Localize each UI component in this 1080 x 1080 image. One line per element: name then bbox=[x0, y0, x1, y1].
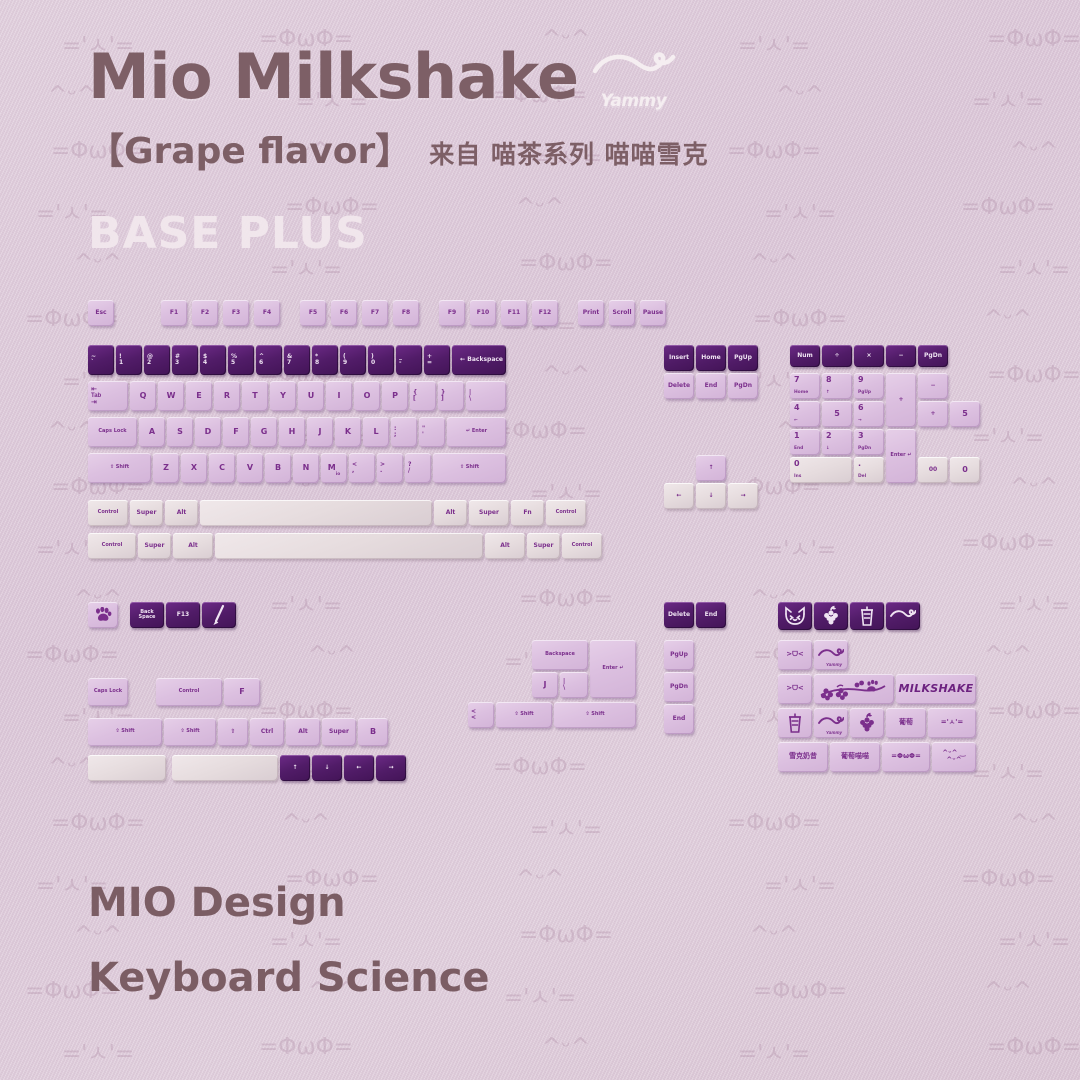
keycap-arrow-down[interactable]: ↓ bbox=[696, 483, 726, 509]
keycap-super-x[interactable]: Super bbox=[322, 718, 356, 746]
keycap-legend: L bbox=[373, 428, 378, 436]
keycap-legend: 3 bbox=[858, 432, 864, 440]
keycap-end-m[interactable]: End bbox=[696, 602, 726, 628]
keycap-legend: S bbox=[177, 428, 183, 436]
keycap-nov-grape2[interactable] bbox=[850, 708, 884, 738]
keycap-n00[interactable]: 00 bbox=[918, 457, 948, 483]
keycap-lctrl[interactable]: Control bbox=[88, 500, 128, 526]
keycap-legend: − bbox=[930, 383, 935, 389]
keycap-legend-bottom: . bbox=[380, 468, 382, 474]
keycap-mult[interactable]: × bbox=[854, 345, 884, 367]
keycap-legend: F4 bbox=[263, 310, 271, 316]
keycap-legend: Alt bbox=[500, 543, 510, 549]
keycap-end[interactable]: End bbox=[696, 373, 726, 399]
keycap-f11[interactable]: F11 bbox=[501, 300, 527, 326]
keycap-legend: F bbox=[239, 688, 244, 696]
keycap-legend: U bbox=[308, 392, 315, 400]
keycap-backspace[interactable]: ← Backspace bbox=[452, 345, 506, 375]
keycap-legend: ↵ Enter bbox=[466, 429, 487, 434]
keycap-slash[interactable]: ?/ bbox=[405, 453, 431, 483]
keycap-nov-kao2[interactable]: >ᗜ< bbox=[778, 674, 812, 704]
keycap-space[interactable] bbox=[200, 500, 432, 526]
keycap-legend: X bbox=[191, 464, 197, 472]
kit-name-label: BASE PLUS bbox=[88, 208, 368, 259]
keycap-nov-yammy-dark[interactable] bbox=[886, 602, 920, 630]
keycap-n7[interactable]: 7Home bbox=[790, 373, 820, 399]
keycap-n4[interactable]: 4← bbox=[790, 401, 820, 427]
keycap-legend: PgUp bbox=[670, 652, 688, 658]
keycap-pipe-m[interactable]: |\ bbox=[560, 672, 588, 698]
keycap-legend: Backspace bbox=[545, 652, 575, 657]
keycap-lshift[interactable]: ⇧ Shift bbox=[88, 453, 151, 483]
keycap-j[interactable]: J bbox=[307, 417, 333, 447]
keycap-legend: F3 bbox=[232, 310, 240, 316]
keycap-tab[interactable]: ⇤Tab⇥ bbox=[88, 381, 128, 411]
keycap-nplus-big[interactable]: + bbox=[886, 373, 916, 427]
footer-tagline: Keyboard Science bbox=[88, 955, 490, 1001]
product-title-text: Mio Milkshake bbox=[88, 40, 579, 113]
keycap-legend: B bbox=[370, 728, 376, 736]
keycap-nov-kao1[interactable]: >ᗜ< bbox=[778, 640, 812, 670]
keycap-nov-kao3[interactable]: ='ㅅ'= bbox=[928, 708, 976, 738]
keycap-legend: F13 bbox=[177, 612, 189, 618]
keycap-d8[interactable]: *8 bbox=[312, 345, 338, 375]
keycap-legend: 5 bbox=[834, 410, 840, 418]
keycap-legend: Control bbox=[556, 510, 577, 515]
keycap-f10[interactable]: F10 bbox=[470, 300, 496, 326]
keycap-delete-m[interactable]: Delete bbox=[664, 602, 694, 628]
keycap-n0[interactable]: 0Ins bbox=[790, 457, 852, 483]
keycap-legend: PgDn bbox=[734, 383, 752, 389]
keycap-minus[interactable]: _- bbox=[396, 345, 422, 375]
keycap-legend-bottom: < bbox=[471, 715, 476, 721]
keycap-d2[interactable]: @2 bbox=[144, 345, 170, 375]
keycap-kaomoji: ='ㅅ'= bbox=[941, 719, 963, 726]
keycap-legend: ↓ bbox=[324, 765, 329, 771]
flavor-label-cn: 来自 喵茶系列 喵喵雪克 bbox=[429, 135, 708, 171]
keycap-shift-m1[interactable]: ⇧ Shift bbox=[496, 702, 552, 728]
keycap-d6[interactable]: ^6 bbox=[256, 345, 282, 375]
keycap-space-x1[interactable] bbox=[88, 755, 166, 781]
keycap-legend: Alt bbox=[177, 510, 187, 516]
keycap-arr-up-x[interactable]: ↑ bbox=[280, 755, 310, 781]
keycap-legend-bottom: 7 bbox=[287, 360, 291, 366]
keycap-legend: End bbox=[705, 612, 718, 618]
pen-icon bbox=[205, 604, 233, 626]
keycap-legend: D bbox=[205, 428, 212, 436]
keycap-period[interactable]: >. bbox=[377, 453, 403, 483]
keycap-legend: F9 bbox=[448, 310, 456, 316]
keycap-end-m2[interactable]: End bbox=[664, 704, 694, 734]
keycap-nov-milkshake[interactable]: MILKSHAKE bbox=[896, 674, 976, 704]
keycap-capslock[interactable]: Caps Lock bbox=[88, 417, 137, 447]
keycap-t[interactable]: T bbox=[242, 381, 268, 411]
keycap-shift-x1[interactable]: ⇧ Shift bbox=[88, 718, 162, 746]
keycap-kaomoji: >ᗜ< bbox=[786, 685, 804, 692]
keycap-n5-extra[interactable]: 5 bbox=[950, 401, 980, 427]
keycap-ralt2[interactable]: Alt bbox=[485, 533, 525, 559]
keycap-nplus-small[interactable]: + bbox=[918, 401, 948, 427]
keycap-nov-yammy1[interactable]: Yammy bbox=[814, 640, 848, 670]
keycap-enter[interactable]: ↵ Enter bbox=[447, 417, 506, 447]
keycap-h[interactable]: H bbox=[279, 417, 305, 447]
keycap-d9[interactable]: (9 bbox=[340, 345, 366, 375]
keycap-legend: A bbox=[149, 428, 155, 436]
keycap-k[interactable]: K bbox=[335, 417, 361, 447]
keycap-legend-bottom: 8 bbox=[315, 360, 319, 366]
keycap-div[interactable]: ÷ bbox=[822, 345, 852, 367]
keycap-kaomoji: =ΦωΦ= bbox=[891, 753, 921, 760]
keycap-arr-dn-x[interactable]: ↓ bbox=[312, 755, 342, 781]
yammy-logo: Yammy bbox=[593, 53, 685, 109]
keycap-legend: F2 bbox=[201, 310, 209, 316]
keycap-e[interactable]: E bbox=[186, 381, 212, 411]
keycap-semi[interactable]: :; bbox=[391, 417, 417, 447]
keycap-legend-bottom: 4 bbox=[203, 360, 207, 366]
keycap-legend: Ctrl bbox=[261, 729, 273, 735]
keycap-nov-cn1[interactable]: 雪克奶昔 bbox=[778, 742, 828, 772]
keycap-rshift[interactable]: ⇧ Shift bbox=[433, 453, 506, 483]
keycap-legend-bottom: \ bbox=[563, 685, 565, 691]
keycap-f[interactable]: F bbox=[223, 417, 249, 447]
keycap-quote[interactable]: "' bbox=[419, 417, 445, 447]
keycap-legend: Super bbox=[329, 729, 349, 735]
keycap-lbrace[interactable]: {[ bbox=[410, 381, 436, 411]
keycap-sublegend: End bbox=[794, 447, 803, 452]
keycap-legend-bottom: / bbox=[408, 468, 410, 474]
keycap-rbrace[interactable]: }] bbox=[438, 381, 464, 411]
keycap-f7[interactable]: F7 bbox=[362, 300, 388, 326]
keycap-comma[interactable]: <, bbox=[349, 453, 375, 483]
keycap-home[interactable]: Home bbox=[696, 345, 726, 371]
keycap-lalt2[interactable]: Alt bbox=[173, 533, 213, 559]
yammy-logo-text: Yammy bbox=[601, 91, 667, 111]
keycap-legend: Super bbox=[145, 543, 165, 549]
keycap-nov-cup[interactable] bbox=[850, 602, 884, 630]
keycap-legend: Enter ↵ bbox=[602, 666, 623, 671]
keycap-legend-bottom: ` bbox=[91, 360, 94, 366]
keycap-legend: ÷ bbox=[834, 353, 839, 359]
keycap-grave[interactable]: ~` bbox=[88, 345, 114, 375]
keycap-n0-extra[interactable]: 0 bbox=[950, 457, 980, 483]
keycap-legend: Control bbox=[179, 689, 200, 694]
keycap-d5[interactable]: %5 bbox=[228, 345, 254, 375]
keycap-fn[interactable]: Fn bbox=[511, 500, 544, 526]
keycap-sublegend: io bbox=[336, 473, 341, 478]
keycap-sublegend: ↓ bbox=[826, 447, 830, 452]
keycap-legend: F bbox=[233, 428, 238, 436]
keycap-legend: F7 bbox=[371, 310, 379, 316]
keycap-ndot[interactable]: .Del bbox=[854, 457, 884, 483]
grape-icon bbox=[817, 604, 845, 628]
keycap-shift-m2[interactable]: ⇧ Shift bbox=[554, 702, 636, 728]
keycap-n3[interactable]: 3PgDn bbox=[854, 429, 884, 455]
keycap-sublabel: Yammy bbox=[817, 731, 848, 736]
keycap-lsuper[interactable]: Super bbox=[130, 500, 163, 526]
keycap-legend: × bbox=[866, 353, 871, 359]
keycap-pause[interactable]: Pause bbox=[640, 300, 666, 326]
keycap-pen[interactable] bbox=[202, 602, 236, 628]
keycap-pgdn-m[interactable]: PgDn bbox=[664, 672, 694, 702]
keycap-legend-bottom: ⇥ bbox=[91, 399, 97, 406]
keycap-f12[interactable]: F12 bbox=[532, 300, 558, 326]
keycap-y[interactable]: Y bbox=[270, 381, 296, 411]
keycap-legend: F5 bbox=[309, 310, 317, 316]
keycap-f9[interactable]: F9 bbox=[439, 300, 465, 326]
keycap-nenter[interactable]: Enter ↵ bbox=[886, 429, 916, 483]
keycap-sublegend: Del bbox=[858, 475, 866, 480]
keycap-legend: G bbox=[261, 428, 268, 436]
keycap-milkshake-word: MILKSHAKE bbox=[899, 683, 974, 695]
keycap-rsuper[interactable]: Super bbox=[469, 500, 509, 526]
keycap-f1[interactable]: F1 bbox=[161, 300, 187, 326]
milk-cup-icon bbox=[853, 604, 881, 628]
keycap-r[interactable]: R bbox=[214, 381, 240, 411]
keycap-legend: Alt bbox=[188, 543, 198, 549]
keycap-legend-bottom: - bbox=[399, 360, 402, 366]
keycap-legend: PgDn bbox=[924, 353, 942, 359]
keycap-legend: Control bbox=[102, 543, 123, 548]
keycap-n6[interactable]: 6→ bbox=[854, 401, 884, 427]
keycap-arrow-right[interactable]: → bbox=[728, 483, 758, 509]
keycap-a[interactable]: A bbox=[139, 417, 165, 447]
keycap-f5[interactable]: F5 bbox=[300, 300, 326, 326]
keycap-legend: M bbox=[328, 464, 336, 472]
keycap-capslock-x[interactable]: Caps Lock bbox=[88, 678, 128, 706]
keycap-legend: F12 bbox=[539, 310, 551, 316]
keycap-n2[interactable]: 2↓ bbox=[822, 429, 852, 455]
keycap-legend: ⇧ Shift bbox=[110, 465, 129, 470]
keycap-esc[interactable]: Esc bbox=[88, 300, 114, 326]
keycap-legend: + bbox=[930, 411, 935, 417]
keycap-legend: Back Space bbox=[133, 610, 161, 621]
keycap-legend: K bbox=[345, 428, 351, 436]
keycap-legend: 4 bbox=[794, 404, 800, 412]
cat-face-icon bbox=[781, 604, 809, 628]
keycap-label: 葡萄喵喵 bbox=[841, 753, 869, 760]
keycap-enter-m[interactable]: Enter ↵ bbox=[590, 640, 636, 698]
keycap-nov-putao[interactable]: 葡萄 bbox=[886, 708, 926, 738]
keycap-legend-bottom: 1 bbox=[119, 360, 123, 366]
keycap-label: 雪克奶昔 bbox=[789, 753, 817, 760]
keycap-legend: Enter ↵ bbox=[890, 453, 911, 458]
keycap-paw[interactable] bbox=[88, 602, 118, 628]
keycap-l[interactable]: L bbox=[363, 417, 389, 447]
keycap-legend-top: ⇤ bbox=[91, 386, 97, 393]
keycap-legend-bottom: \ bbox=[469, 396, 471, 402]
keycap-g[interactable]: G bbox=[251, 417, 277, 447]
keycap-num[interactable]: Num bbox=[790, 345, 820, 367]
keycap-legend: Alt bbox=[446, 510, 456, 516]
keycap-nov-vine[interactable] bbox=[814, 674, 894, 704]
keycap-legend: + bbox=[898, 397, 903, 403]
keycap-legend: ← bbox=[676, 493, 681, 499]
keycap-arrow-left[interactable]: ← bbox=[664, 483, 694, 509]
keycap-print[interactable]: Print bbox=[578, 300, 604, 326]
keycap-legend-bottom: , bbox=[352, 468, 354, 474]
keycap-legend: O bbox=[364, 392, 371, 400]
keycap-nminus[interactable]: − bbox=[918, 373, 948, 399]
keycap-b-x[interactable]: B bbox=[358, 718, 388, 746]
keycap-legend: ⇧ Shift bbox=[180, 729, 199, 734]
keycap-n8[interactable]: 8↑ bbox=[822, 373, 852, 399]
keycap-rctrl[interactable]: Control bbox=[546, 500, 586, 526]
keycap-legend: F11 bbox=[508, 310, 520, 316]
keycap-legend: 00 bbox=[929, 467, 937, 473]
flavor-label: 【Grape flavor】 bbox=[88, 122, 411, 174]
keycap-legend: Q bbox=[140, 392, 147, 400]
keycap-rsuper2[interactable]: Super bbox=[527, 533, 560, 559]
keycap-nov-cup2[interactable] bbox=[778, 708, 812, 738]
keycap-nov-cn2[interactable]: 葡萄喵喵 bbox=[830, 742, 880, 772]
keycap-q[interactable]: Q bbox=[130, 381, 156, 411]
keycap-legend: Control bbox=[98, 510, 119, 515]
keycap-legend: Print bbox=[583, 310, 600, 316]
keycap-legend: 2 bbox=[826, 432, 832, 440]
keycap-legend: F6 bbox=[340, 310, 348, 316]
keycap-legend: J bbox=[544, 681, 547, 689]
keycap-d4[interactable]: $4 bbox=[200, 345, 226, 375]
keycap-legend: . bbox=[858, 460, 861, 468]
keycap-legend: ← bbox=[356, 765, 361, 771]
keycap-f6[interactable]: F6 bbox=[331, 300, 357, 326]
keycap-f13[interactable]: F13 bbox=[166, 602, 200, 628]
keycap-legend: ⇧ bbox=[230, 729, 235, 735]
keycap-v[interactable]: V bbox=[237, 453, 263, 483]
keycap-z[interactable]: Z bbox=[153, 453, 179, 483]
keycap-f2[interactable]: F2 bbox=[192, 300, 218, 326]
keycap-b[interactable]: B bbox=[265, 453, 291, 483]
yammy-swirl-icon bbox=[593, 49, 685, 93]
keycap-backspace-small[interactable]: Back Space bbox=[130, 602, 164, 628]
keycap-rctrl2[interactable]: Control bbox=[562, 533, 602, 559]
keycap-legend: 7 bbox=[794, 376, 800, 384]
keycap-n9[interactable]: 9PgUp bbox=[854, 373, 884, 399]
keycap-d3[interactable]: #3 bbox=[172, 345, 198, 375]
keycap-nov-kao4[interactable]: =ΦωΦ= bbox=[882, 742, 930, 772]
keycap-nov-yammy2[interactable]: Yammy bbox=[814, 708, 848, 738]
keycap-ctrl-x[interactable]: Ctrl bbox=[250, 718, 284, 746]
keycap-legend: 5 bbox=[962, 410, 968, 418]
keycap-sublegend: → bbox=[858, 419, 862, 424]
keycap-arr-lt-x[interactable]: ← bbox=[344, 755, 374, 781]
keycap-legend: V bbox=[247, 464, 253, 472]
keycap-sub[interactable]: − bbox=[886, 345, 916, 367]
keycap-legend: Delete bbox=[668, 612, 690, 618]
keycap-control-x[interactable]: Control bbox=[156, 678, 222, 706]
keycap-ralt[interactable]: Alt bbox=[434, 500, 467, 526]
grape-icon bbox=[853, 710, 881, 736]
keycap-legend: End bbox=[705, 383, 718, 389]
keycap-x[interactable]: X bbox=[181, 453, 207, 483]
keycap-nov-grape-dark[interactable] bbox=[814, 602, 848, 630]
keycap-o[interactable]: O bbox=[354, 381, 380, 411]
keycap-w[interactable]: W bbox=[158, 381, 184, 411]
keycap-lctrl2[interactable]: Control bbox=[88, 533, 136, 559]
keycap-legend-bottom: 6 bbox=[259, 360, 263, 366]
keycap-d1[interactable]: !1 bbox=[116, 345, 142, 375]
keycap-legend-bottom: ] bbox=[441, 396, 444, 402]
keycap-kaomoji: >ᗜ< bbox=[786, 651, 804, 658]
keycap-m[interactable]: Mio bbox=[321, 453, 347, 483]
keycap-insert[interactable]: Insert bbox=[664, 345, 694, 371]
keycap-npgdn[interactable]: PgDn bbox=[918, 345, 948, 367]
keycap-legend: Fn bbox=[523, 510, 531, 516]
keycap-legend: Home bbox=[701, 355, 720, 361]
keycap-legend: ↑ bbox=[708, 465, 713, 471]
keycap-legend: End bbox=[673, 716, 686, 722]
keycap-n[interactable]: N bbox=[293, 453, 319, 483]
keycap-legend: Insert bbox=[669, 355, 689, 361]
keycap-shift-x3[interactable]: ⇧ bbox=[218, 718, 248, 746]
keycap-legend-bottom: ← Backspace bbox=[460, 357, 503, 363]
footer-designer: MIO Design bbox=[88, 880, 346, 926]
keycap-space2[interactable] bbox=[215, 533, 483, 559]
keycap-legend: F8 bbox=[402, 310, 410, 316]
keycap-legend: ⇧ Shift bbox=[115, 729, 134, 734]
keycap-nov-cat[interactable] bbox=[778, 602, 812, 630]
keycap-pipe[interactable]: |\ bbox=[466, 381, 506, 411]
keycap-alt-x[interactable]: Alt bbox=[286, 718, 320, 746]
keycap-lt-m[interactable]: << bbox=[468, 702, 494, 728]
grape-vine-paw-icon bbox=[817, 676, 891, 702]
keycap-f8[interactable]: F8 bbox=[393, 300, 419, 326]
keycap-c[interactable]: C bbox=[209, 453, 235, 483]
keycap-p[interactable]: P bbox=[382, 381, 408, 411]
keycap-i[interactable]: I bbox=[326, 381, 352, 411]
keycap-lalt[interactable]: Alt bbox=[165, 500, 198, 526]
keycap-delete[interactable]: Delete bbox=[664, 373, 694, 399]
keycap-pgdn[interactable]: PgDn bbox=[728, 373, 758, 399]
keycap-scroll[interactable]: Scroll bbox=[609, 300, 635, 326]
keycap-f4[interactable]: F4 bbox=[254, 300, 280, 326]
keycap-legend: − bbox=[898, 353, 903, 359]
keycap-s[interactable]: S bbox=[167, 417, 193, 447]
keycap-shift-x2[interactable]: ⇧ Shift bbox=[164, 718, 216, 746]
keycap-f-x[interactable]: F bbox=[224, 678, 260, 706]
keycap-legend: ↓ bbox=[708, 493, 713, 499]
keycap-legend: B bbox=[275, 464, 281, 472]
keycap-f3[interactable]: F3 bbox=[223, 300, 249, 326]
keycap-sublegend: PgDn bbox=[858, 447, 871, 452]
keycap-legend: C bbox=[219, 464, 225, 472]
keycap-n5[interactable]: 5 bbox=[822, 401, 852, 427]
keycap-legend: Z bbox=[163, 464, 169, 472]
keycap-space-x2[interactable] bbox=[172, 755, 278, 781]
subtitle: 【Grape flavor】 来自 喵茶系列 喵喵雪克 bbox=[88, 122, 709, 174]
keycap-n1[interactable]: 1End bbox=[790, 429, 820, 455]
keycap-arrow-up[interactable]: ↑ bbox=[696, 455, 726, 481]
keycap-legend: ⇧ Shift bbox=[514, 712, 533, 717]
keycap-u[interactable]: U bbox=[298, 381, 324, 411]
keycap-pgup-m[interactable]: PgUp bbox=[664, 640, 694, 670]
keycap-lsuper2[interactable]: Super bbox=[138, 533, 171, 559]
keycap-arr-rt-x[interactable]: → bbox=[376, 755, 406, 781]
keycap-pgup[interactable]: PgUp bbox=[728, 345, 758, 371]
keycap-d7[interactable]: &7 bbox=[284, 345, 310, 375]
keycap-d[interactable]: D bbox=[195, 417, 221, 447]
keycap-legend-bottom: 0 bbox=[371, 360, 375, 366]
keycap-j-m[interactable]: J bbox=[532, 672, 558, 698]
keycap-equal[interactable]: += bbox=[424, 345, 450, 375]
milk-cup-icon bbox=[781, 710, 809, 736]
keycap-legend: → bbox=[740, 493, 745, 499]
keycap-backspace-m[interactable]: Backspace bbox=[532, 640, 588, 670]
keycap-nov-kao5[interactable]: ^ᵕ^ ‿ ^ᵕ^ bbox=[932, 742, 976, 772]
yammy-swirl-icon bbox=[889, 604, 917, 628]
keycap-d0[interactable]: )0 bbox=[368, 345, 394, 375]
keycap-legend: PgUp bbox=[734, 355, 752, 361]
